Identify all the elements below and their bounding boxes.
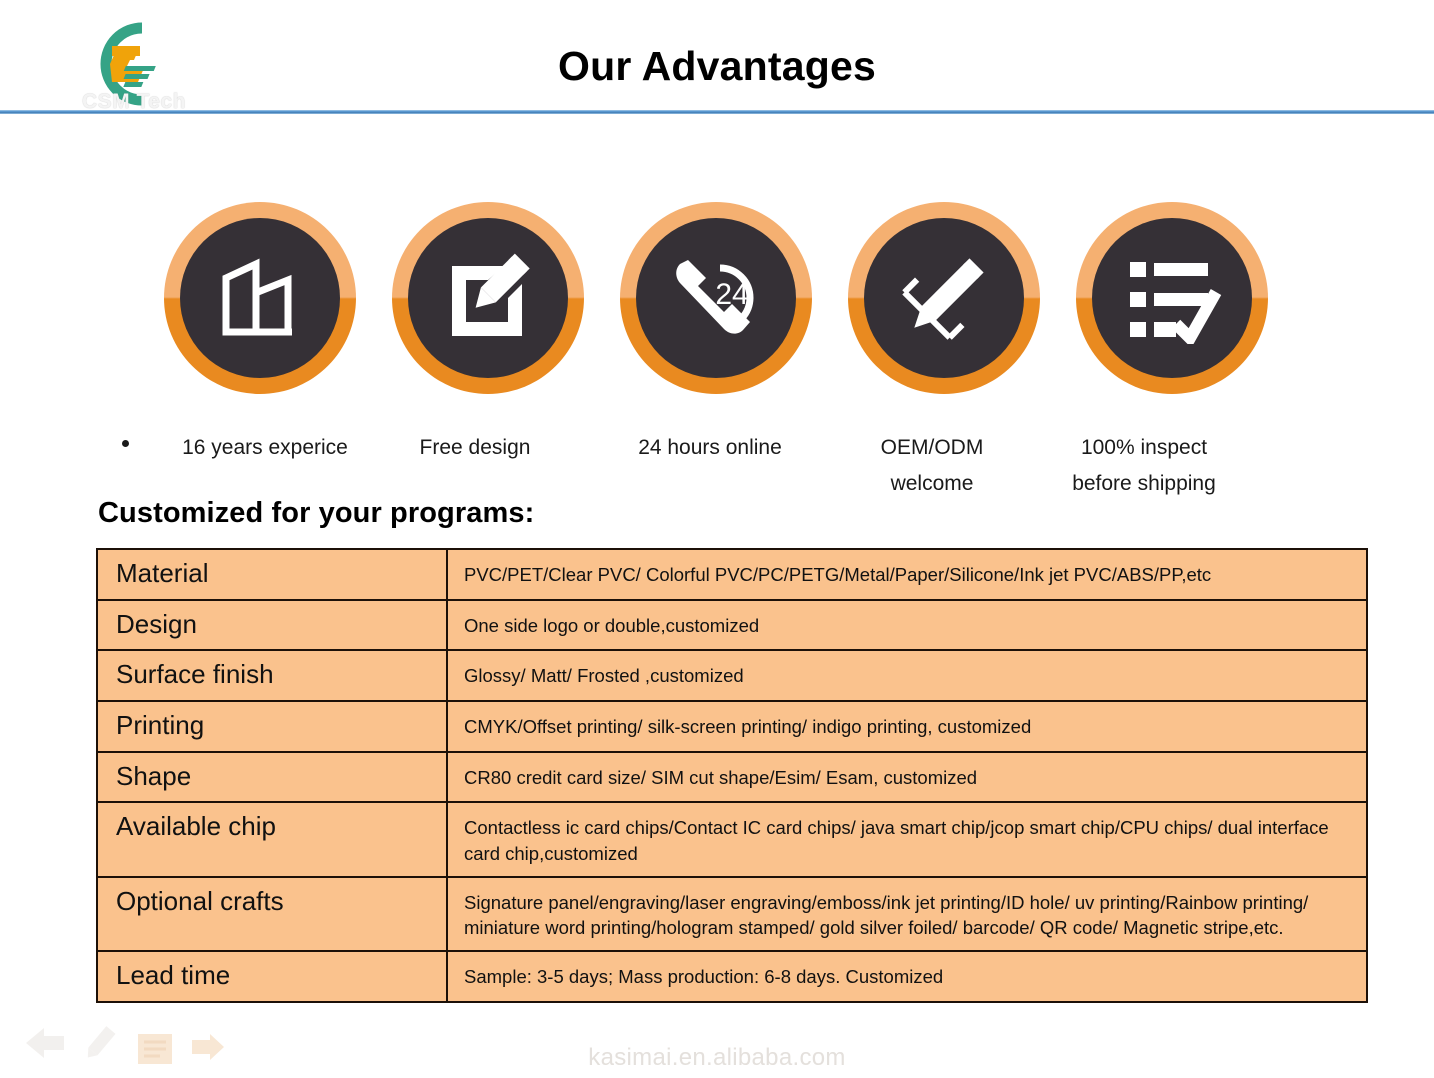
table-row: Printing CMYK/Offset printing/ silk-scre… [97,701,1367,752]
badge-disc: 24 [636,218,796,378]
spec-value: CR80 credit card size/ SIM cut shape/Esi… [447,752,1367,803]
advantage-label-5: 100% inspect before shipping [1038,430,1250,502]
spec-key: Optional crafts [97,877,447,951]
badge-disc [1092,218,1252,378]
badge-ring: 24 [620,202,812,394]
pencil-icon [80,1022,120,1064]
badge-count-label: 24 [715,278,748,311]
factory-building-icon [212,252,308,344]
advantage-badge-1 [160,196,360,408]
edit-square-pencil-icon [440,250,536,346]
badge-disc [864,218,1024,378]
checklist-check-icon [1122,252,1222,344]
spec-key: Lead time [97,951,447,1002]
spec-value: PVC/PET/Clear PVC/ Colorful PVC/PC/PETG/… [447,549,1367,600]
table-row: Available chip Contactless ic card chips… [97,802,1367,876]
table-row: Design One side logo or double,customize… [97,600,1367,651]
advantage-badge-3: 24 [616,196,816,408]
table-row: Lead time Sample: 3-5 days; Mass product… [97,951,1367,1002]
spec-value: Glossy/ Matt/ Frosted ,customized [447,650,1367,701]
advantage-label-2: Free design [380,430,570,466]
badge-ring [848,202,1040,394]
arrow-right-icon [188,1030,228,1068]
advantages-icon-strip: 24 [160,196,1280,414]
watermark-url: kasimai.en.alibaba.com [0,1044,1434,1072]
document-icon [134,1030,178,1068]
spec-value: CMYK/Offset printing/ silk-screen printi… [447,701,1367,752]
table-row: Surface finish Glossy/ Matt/ Frosted ,cu… [97,650,1367,701]
spec-key: Design [97,600,447,651]
table-row: Material PVC/PET/Clear PVC/ Colorful PVC… [97,549,1367,600]
advantage-badge-4 [844,196,1044,408]
table-row: Optional crafts Signature panel/engravin… [97,877,1367,951]
spec-key: Surface finish [97,650,447,701]
badge-ring [392,202,584,394]
page-title: Our Advantages [0,46,1434,87]
title-divider [0,110,1434,114]
pencil-ruler-design-icon [894,248,994,348]
table-row: Shape CR80 credit card size/ SIM cut sha… [97,752,1367,803]
spec-key: Material [97,549,447,600]
spec-key: Printing [97,701,447,752]
spec-key: Shape [97,752,447,803]
advantage-label-3: 24 hours online [610,430,810,466]
advantage-badge-2 [388,196,588,408]
advantage-badge-5 [1072,196,1272,408]
page-header: CSM Tech Our Advantages [0,0,1434,114]
specifications-table: Material PVC/PET/Clear PVC/ Colorful PVC… [96,548,1368,1003]
arrow-left-icon [22,1022,68,1064]
phone-24-hours-icon: 24 [664,250,768,346]
bullet-point-icon [122,440,129,447]
spec-value: One side logo or double,customized [447,600,1367,651]
section-heading: Customized for your programs: [98,497,534,530]
advantages-captions: 16 years experice Free design 24 hours o… [0,430,1434,506]
spec-value: Sample: 3-5 days; Mass production: 6-8 d… [447,951,1367,1002]
advantage-label-4: OEM/ODM welcome [838,430,1026,502]
spec-key: Available chip [97,802,447,876]
spec-value: Contactless ic card chips/Contact IC car… [447,802,1367,876]
badge-disc [180,218,340,378]
spec-value: Signature panel/engraving/laser engravin… [447,877,1367,951]
badge-ring [164,202,356,394]
badge-disc [408,218,568,378]
advantage-label-1: 16 years experice [160,430,370,466]
badge-ring [1076,202,1268,394]
watermark-icon-group [22,1022,232,1074]
